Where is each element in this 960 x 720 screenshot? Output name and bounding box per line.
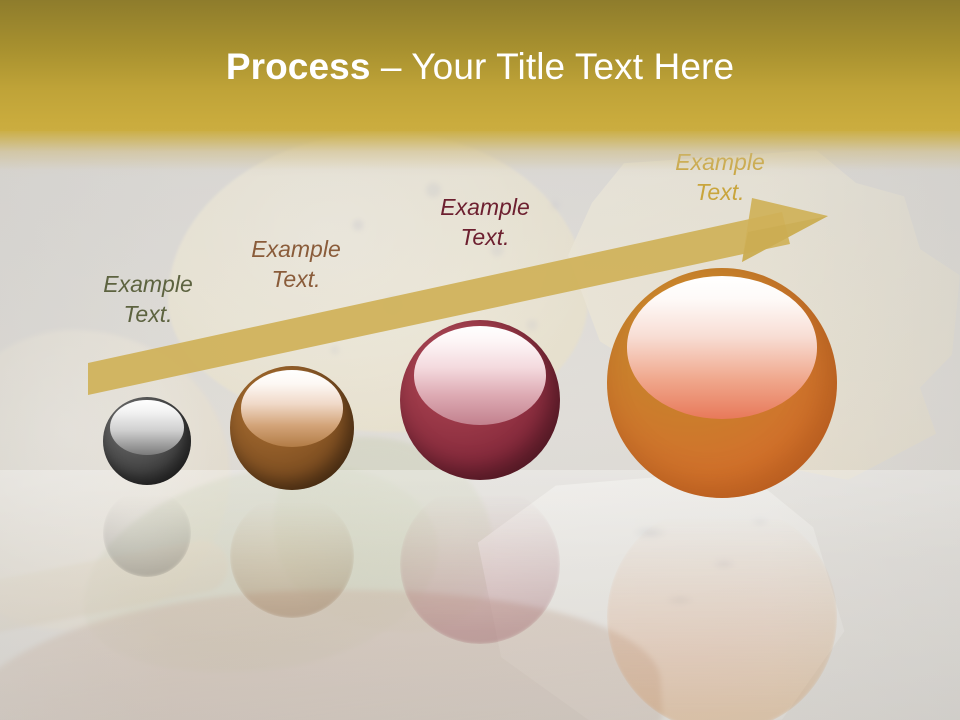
process-sphere-4[interactable] xyxy=(607,268,837,498)
process-sphere-1[interactable] xyxy=(103,397,191,485)
step-label-2-line1: Example xyxy=(233,234,359,264)
step-label-2-line2: Text. xyxy=(233,264,359,294)
process-sphere-2[interactable] xyxy=(230,366,354,490)
step-label-2[interactable]: Example Text. xyxy=(233,234,359,294)
sphere-highlight-3 xyxy=(414,326,547,425)
sphere-reflection-1 xyxy=(103,489,191,577)
sphere-highlight-1 xyxy=(110,400,183,455)
slide: Example Text. Example Text. Example Text… xyxy=(0,0,960,720)
step-label-4-line2: Text. xyxy=(655,177,785,207)
title-bar-fade xyxy=(0,131,960,177)
page-title[interactable]: Process – Your Title Text Here xyxy=(0,44,960,90)
page-title-strong: Process xyxy=(226,46,371,87)
step-label-3-line1: Example xyxy=(422,192,548,222)
sphere-reflection-4 xyxy=(607,502,837,720)
process-sphere-3[interactable] xyxy=(400,320,560,480)
step-label-1[interactable]: Example Text. xyxy=(88,269,208,329)
sphere-reflection-3 xyxy=(400,484,560,644)
sphere-highlight-4 xyxy=(627,276,818,419)
step-label-1-line2: Text. xyxy=(88,299,208,329)
sphere-highlight-2 xyxy=(241,370,344,447)
sphere-reflection-2 xyxy=(230,494,354,618)
step-label-3[interactable]: Example Text. xyxy=(422,192,548,252)
step-label-1-line1: Example xyxy=(88,269,208,299)
page-title-rest: – Your Title Text Here xyxy=(371,46,735,87)
step-label-3-line2: Text. xyxy=(422,222,548,252)
